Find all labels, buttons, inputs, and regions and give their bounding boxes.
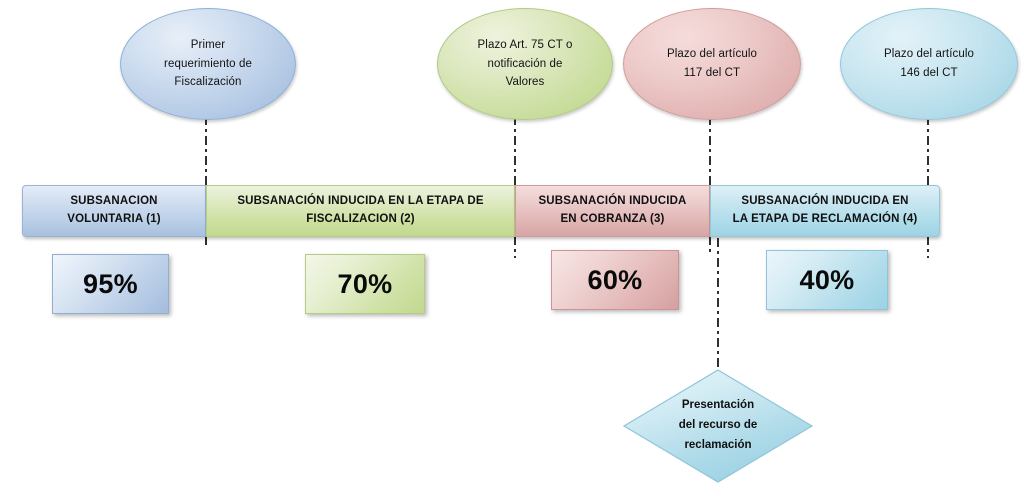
stage-segment-subsanacion-inducida-cobranza[interactable]: SUBSANACIÓN INDUCIDA EN COBRANZA (3) — [515, 185, 710, 237]
percent-value-1: 95% — [83, 269, 138, 300]
milestone-label-3-line-1: Plazo del artículo — [667, 45, 757, 64]
diagram-canvas: Primer requerimiento de Fiscalización Pl… — [0, 0, 1024, 496]
stage-bar: SUBSANACION VOLUNTARIA (1) SUBSANACIÓN I… — [22, 185, 940, 237]
stage-label-2-line-1: SUBSANACIÓN INDUCIDA EN LA ETAPA DE — [237, 193, 483, 211]
milestone-label-2-line-3: Valores — [478, 73, 573, 92]
stage-label-3: SUBSANACIÓN INDUCIDA EN COBRANZA (3) — [530, 193, 694, 229]
milestone-label-1-line-1: Primer — [164, 36, 252, 55]
milestone-label-2: Plazo Art. 75 CT o notificación de Valor… — [464, 36, 587, 92]
diamond-shape-icon — [622, 368, 814, 484]
milestone-ellipse-plazo-art-75[interactable]: Plazo Art. 75 CT o notificación de Valor… — [437, 8, 613, 120]
milestone-label-2-line-2: notificación de — [478, 55, 573, 74]
milestone-ellipse-plazo-art-117[interactable]: Plazo del artículo 117 del CT — [623, 8, 801, 120]
stage-label-1-line-2: VOLUNTARIA (1) — [67, 211, 160, 229]
percent-box-subsanacion-inducida-reclamacion[interactable]: 40% — [766, 250, 888, 310]
milestone-label-1: Primer requerimiento de Fiscalización — [150, 36, 266, 92]
percent-box-subsanacion-voluntaria[interactable]: 95% — [52, 254, 169, 314]
milestone-label-4-line-2: 146 del CT — [884, 64, 974, 83]
percent-box-subsanacion-inducida-fiscalizacion[interactable]: 70% — [305, 254, 425, 314]
stage-label-2-line-2: FISCALIZACION (2) — [237, 211, 483, 229]
milestone-label-2-line-1: Plazo Art. 75 CT o — [478, 36, 573, 55]
percent-value-3: 60% — [588, 265, 643, 296]
stage-label-1-line-1: SUBSANACION — [67, 193, 160, 211]
milestone-label-3: Plazo del artículo 117 del CT — [653, 45, 771, 82]
stage-label-3-line-1: SUBSANACIÓN INDUCIDA — [538, 193, 686, 211]
stage-label-4-line-2: LA ETAPA DE RECLAMACIÓN (4) — [733, 211, 918, 229]
stage-segment-subsanacion-voluntaria[interactable]: SUBSANACION VOLUNTARIA (1) — [22, 185, 206, 237]
percent-box-subsanacion-inducida-cobranza[interactable]: 60% — [551, 250, 679, 310]
percent-value-4: 40% — [800, 265, 855, 296]
stage-label-3-line-2: EN COBRANZA (3) — [538, 211, 686, 229]
milestone-label-3-line-2: 117 del CT — [667, 64, 757, 83]
stage-segment-subsanacion-inducida-fiscalizacion[interactable]: SUBSANACIÓN INDUCIDA EN LA ETAPA DE FISC… — [206, 185, 515, 237]
stage-label-1: SUBSANACION VOLUNTARIA (1) — [59, 193, 168, 229]
percent-value-2: 70% — [338, 269, 393, 300]
milestone-label-1-line-2: requerimiento de — [164, 55, 252, 74]
event-diamond-presentacion-recurso[interactable]: Presentación del recurso de reclamación — [622, 368, 814, 484]
milestone-ellipse-plazo-art-146[interactable]: Plazo del artículo 146 del CT — [840, 8, 1018, 120]
stage-label-4-line-1: SUBSANACIÓN INDUCIDA EN — [733, 193, 918, 211]
connector-line-event-reclamacion — [717, 238, 719, 370]
stage-segment-subsanacion-inducida-reclamacion[interactable]: SUBSANACIÓN INDUCIDA EN LA ETAPA DE RECL… — [710, 185, 940, 237]
milestone-label-4-line-1: Plazo del artículo — [884, 45, 974, 64]
stage-label-4: SUBSANACIÓN INDUCIDA EN LA ETAPA DE RECL… — [725, 193, 926, 229]
milestone-label-4: Plazo del artículo 146 del CT — [870, 45, 988, 82]
milestone-ellipse-primer-requerimiento[interactable]: Primer requerimiento de Fiscalización — [120, 8, 296, 120]
stage-label-2: SUBSANACIÓN INDUCIDA EN LA ETAPA DE FISC… — [229, 193, 491, 229]
milestone-label-1-line-3: Fiscalización — [164, 73, 252, 92]
